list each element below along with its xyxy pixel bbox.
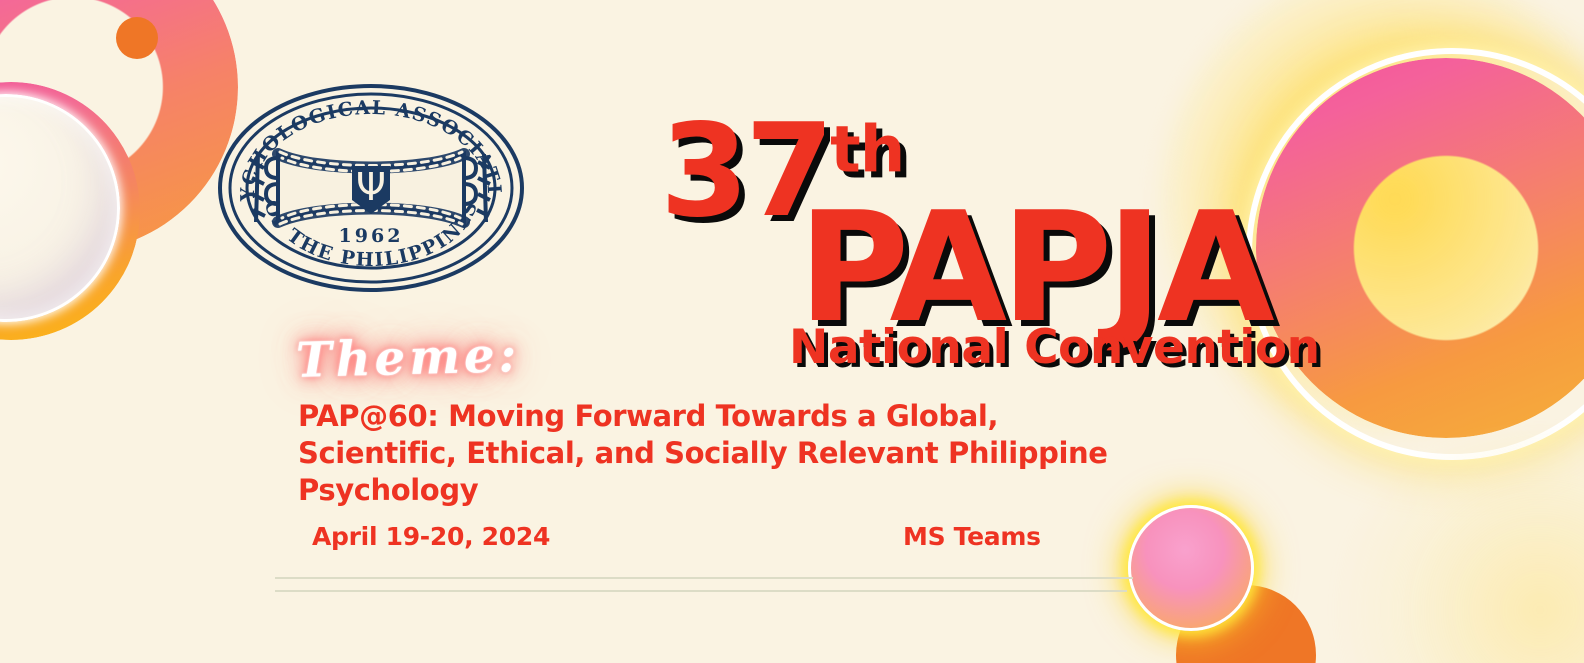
convention-banner: PSYCHOLOGICAL ASSOCIATION OF THE PHILIPP… <box>0 0 1584 663</box>
theme-text: PAP@60: Moving Forward Towards a Global,… <box>298 398 1158 509</box>
right-big-donut-decoration <box>1256 58 1584 438</box>
right-donut-white-glow-ring <box>1246 48 1584 460</box>
bottom-right-glow-ball <box>1128 505 1254 631</box>
event-date: April 19-20, 2024 <box>312 522 550 551</box>
svg-text:Ψ: Ψ <box>356 165 386 209</box>
divider-rules <box>275 572 1133 600</box>
bottom-right-orange-circle <box>1176 585 1316 663</box>
headline-block: 37th PAPJA National Convention <box>650 108 1270 370</box>
subtitle: National Convention <box>789 324 1320 371</box>
event-platform: MS Teams <box>903 522 1041 551</box>
seal-psi-shield: Ψ <box>352 165 390 214</box>
theme-label: Theme: <box>295 327 521 389</box>
seal-year: 1962 <box>339 225 404 247</box>
top-left-dot-decoration <box>116 17 158 59</box>
top-left-ring-decoration <box>0 0 238 252</box>
top-left-big-ring-decoration <box>0 82 140 340</box>
edition-ordinal-suffix: th <box>830 113 904 187</box>
divider-rule-bottom <box>275 590 1127 592</box>
pap-seal-logo: PSYCHOLOGICAL ASSOCIATION OF THE PHILIPP… <box>216 82 526 294</box>
top-left-white-glow-ring <box>0 94 120 322</box>
divider-rule-top <box>275 577 1133 579</box>
bottom-right-yellow-wash <box>1330 430 1584 663</box>
